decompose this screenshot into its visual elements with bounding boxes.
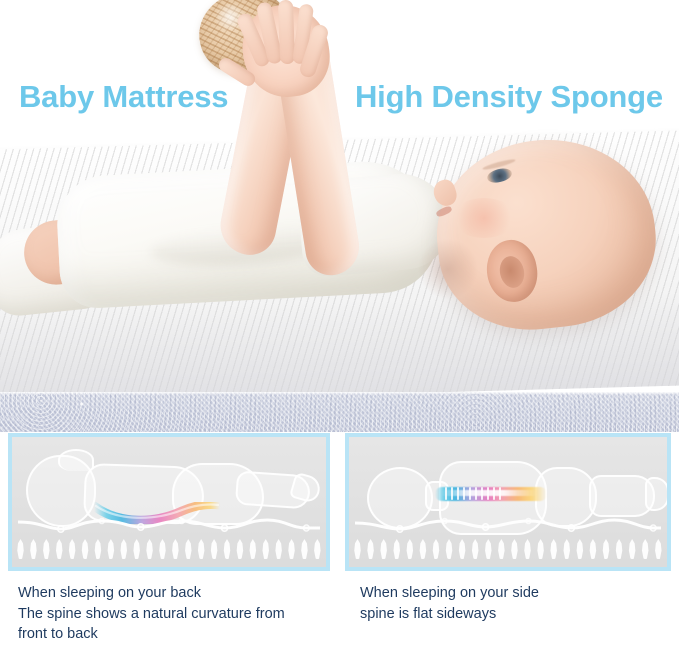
baby-neck-shadow: [418, 238, 478, 300]
product-infographic: Baby Mattress High Density Sponge: [0, 0, 679, 671]
heading-baby-mattress: Baby Mattress: [19, 76, 228, 118]
headings-row: Baby Mattress High Density Sponge: [0, 76, 679, 120]
mattress-line: [18, 516, 320, 534]
vertebra-tick: [499, 487, 501, 500]
mattress-springs: [16, 535, 322, 559]
spine-core-highlight: [441, 490, 537, 496]
vertebra-tick: [481, 487, 483, 500]
vertebra-tick: [463, 487, 465, 500]
vertebra-tick: [475, 487, 477, 500]
caption-line: spine is flat sideways: [360, 604, 660, 625]
sponge-band-highlight: [0, 392, 679, 395]
vertebra-tick: [469, 487, 471, 500]
caption-line: front to back: [18, 624, 328, 645]
vertebra-tick: [445, 487, 447, 500]
vertebra-tick: [451, 487, 453, 500]
caption-line: When sleeping on your side: [360, 583, 660, 604]
caption-side-sleeping: When sleeping on your side spine is flat…: [360, 583, 660, 624]
silhouette-head-top: [58, 449, 94, 471]
caption-back-sleeping: When sleeping on your back The spine sho…: [18, 583, 328, 645]
caption-line: The spine shows a natural curvature from: [18, 604, 328, 625]
panel-back-sleeping: [8, 433, 330, 571]
vertebra-tick: [457, 487, 459, 500]
vertebra-tick: [487, 487, 489, 500]
caption-line: When sleeping on your back: [18, 583, 328, 604]
baby-cheek: [452, 198, 516, 238]
heading-high-density-sponge: High Density Sponge: [355, 76, 663, 118]
diagram-panels: [0, 433, 679, 571]
high-density-sponge-band: [0, 392, 679, 432]
silhouette-feet: [645, 477, 669, 511]
baby-photo: [0, 0, 679, 392]
mattress-springs: [353, 535, 663, 559]
vertebra-tick: [493, 487, 495, 500]
panel-side-sleeping: [345, 433, 671, 571]
mattress-line: [355, 516, 661, 534]
captions-row: When sleeping on your back The spine sho…: [0, 575, 679, 671]
